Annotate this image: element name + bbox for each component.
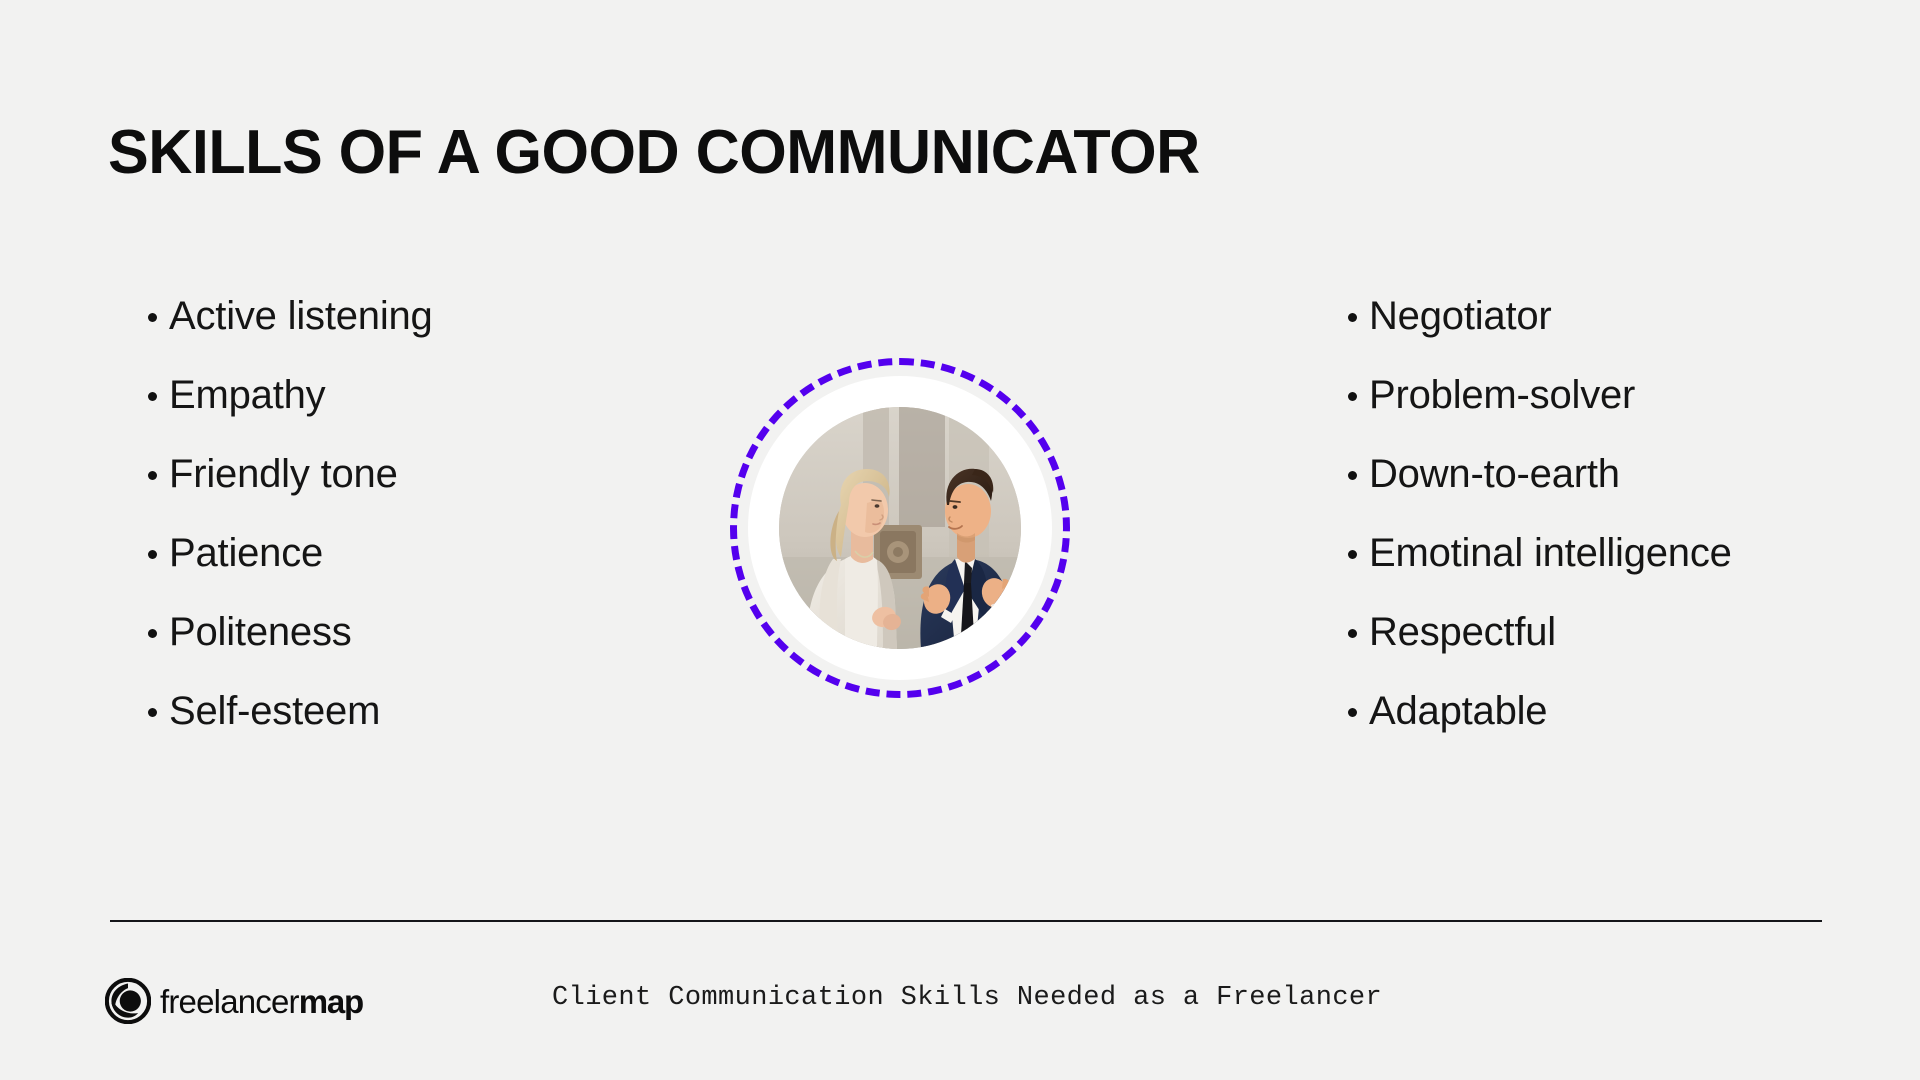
list-item-label: Self-esteem [169,691,380,731]
logo-word-map: map [299,983,363,1020]
list-item-label: Empathy [169,375,325,415]
list-item: Respectful [1348,612,1908,691]
list-item-label: Respectful [1369,612,1556,652]
bullet-dot-icon [1348,629,1357,638]
list-item-label: Adaptable [1369,691,1547,731]
list-item: Self-esteem [148,691,708,770]
bullet-dot-icon [1348,550,1357,559]
skills-column-left: Active listening Empathy Friendly tone P… [148,296,708,770]
bullet-dot-icon [148,392,157,401]
two-professionals-talking-photo [779,407,1021,649]
list-item: Friendly tone [148,454,708,533]
list-item-label: Emotinal intelligence [1369,533,1732,573]
list-item: Active listening [148,296,708,375]
skills-column-right: Negotiator Problem-solver Down-to-earth … [1348,296,1908,770]
list-item-label: Problem-solver [1369,375,1635,415]
list-item-label: Active listening [169,296,433,336]
bullet-dot-icon [148,313,157,322]
bullet-dot-icon [1348,313,1357,322]
footer-divider [110,920,1822,922]
bullet-dot-icon [1348,392,1357,401]
list-item: Patience [148,533,708,612]
bullet-dot-icon [148,550,157,559]
logo-wordmark: freelancermap [160,985,363,1018]
bullet-dot-icon [148,629,157,638]
center-photo-medallion [730,358,1070,698]
logo-word-freelancer: freelancer [160,983,299,1020]
list-item: Down-to-earth [1348,454,1908,533]
list-item-label: Patience [169,533,323,573]
list-item: Emotinal intelligence [1348,533,1908,612]
list-item: Politeness [148,612,708,691]
footer-caption: Client Communication Skills Needed as a … [552,985,1382,1012]
bullet-dot-icon [1348,708,1357,717]
list-item-label: Friendly tone [169,454,398,494]
bullet-dot-icon [148,708,157,717]
bullet-dot-icon [148,471,157,480]
list-item-label: Down-to-earth [1369,454,1620,494]
list-item-label: Politeness [169,612,352,652]
list-item-label: Negotiator [1369,296,1552,336]
list-item: Empathy [148,375,708,454]
list-item: Negotiator [1348,296,1908,375]
freelancermap-logo[interactable]: freelancermap [105,978,363,1024]
list-item: Problem-solver [1348,375,1908,454]
slide-canvas: SKILLS OF A GOOD COMMUNICATOR Active lis… [0,0,1920,1080]
list-item: Adaptable [1348,691,1908,770]
aperture-logo-icon [105,978,151,1024]
bullet-dot-icon [1348,471,1357,480]
page-title: SKILLS OF A GOOD COMMUNICATOR [108,122,1200,184]
